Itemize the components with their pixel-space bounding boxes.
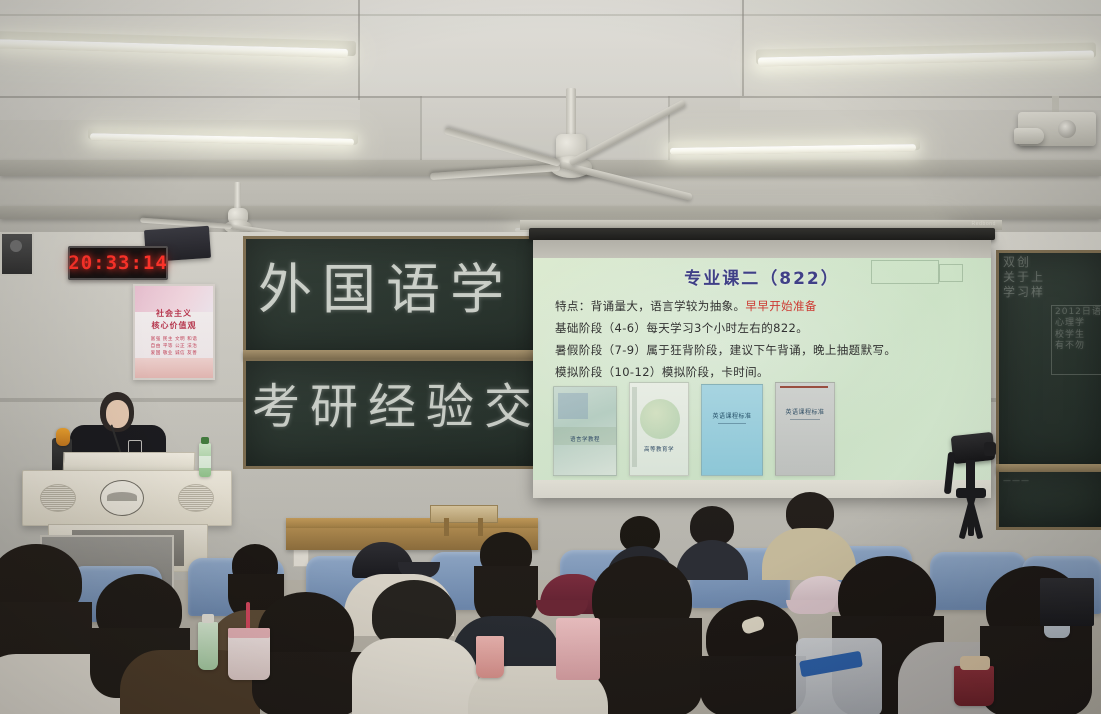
slide-line-3: 暑假阶段（7-9）属于狂背阶段，建议下午背诵，晚上抽题默写。 — [555, 342, 896, 358]
projected-slide: 专业课二（822） 特点：背诵量大，语言学较为抽象。早早开始准备 基础阶段（4-… — [533, 258, 991, 480]
audience-shoulders — [676, 540, 748, 580]
slide-line-1-text: 特点：背诵量大，语言学较为抽象。 — [555, 299, 745, 313]
screen-top-band — [533, 240, 991, 258]
book-cover-2: 高等教育学 — [629, 382, 689, 476]
lecture-hall-photo: 20:33:14 社会主义 核心价值观 富强 民主 文明 和谐 自由 平等 公正… — [0, 0, 1101, 714]
bottle-cap — [202, 614, 214, 623]
book-4-label: 英语课程标准 — [776, 407, 834, 416]
screen-roller-case[interactable] — [529, 228, 995, 240]
book-cover-3: 英语课程标准 — [701, 384, 763, 476]
core-values-poster: 社会主义 核心价值观 富强 民主 文明 和谐 自由 平等 公正 法治 爱国 敬业… — [133, 284, 215, 380]
cap-brim — [786, 600, 836, 614]
audience-shoulders — [762, 528, 856, 580]
presenter-face — [106, 400, 129, 428]
wall-speaker — [0, 232, 34, 276]
book-cover-1: 语言学教程 — [553, 386, 617, 476]
poster-title-line1: 社会主义 — [135, 308, 213, 319]
pink-cup — [476, 636, 504, 678]
projector-front — [1014, 128, 1044, 144]
audience-hair — [980, 626, 1092, 714]
led-wall-clock: 20:33:14 — [68, 246, 168, 280]
slide-fragment-window — [871, 260, 939, 284]
book-3-label: 英语课程标准 — [702, 411, 762, 420]
chalk-text-left-bottom: 考研经验交 — [252, 367, 542, 437]
book-1-label: 语言学教程 — [554, 435, 616, 443]
blackboard-left-lower: 考研经验交 — [243, 358, 549, 469]
microphone-head[interactable] — [56, 428, 70, 446]
camera-lens-icon — [984, 442, 996, 456]
fan-rod-main — [566, 88, 576, 140]
clock-time: 20:33:14 — [68, 252, 168, 274]
book-2-label: 高等教育学 — [630, 445, 688, 453]
water-bottle-cap — [201, 437, 209, 444]
cup-lid — [228, 628, 270, 638]
audience-area — [0, 470, 1101, 714]
slide-fragment-button — [939, 264, 963, 282]
poster-title-line2: 核心价值观 — [135, 320, 213, 331]
slide-line-1-highlight: 早早开始准备 — [745, 299, 816, 313]
screen-brand-label: Redbond — [972, 221, 997, 227]
cup-contents — [960, 656, 990, 670]
slide-line-1: 特点：背诵量大，语言学较为抽象。早早开始准备 — [555, 298, 817, 314]
projector-lens-icon — [1058, 120, 1076, 138]
book-cover-4: 英语课程标准 — [775, 382, 835, 476]
chalk-text-left-top: 外国语学 — [258, 245, 514, 324]
red-cup — [954, 666, 994, 706]
poster-values-text: 富强 民主 文明 和谐 自由 平等 公正 法治 爱国 敬业 诚信 友善 — [135, 336, 213, 357]
audience-shoulders — [352, 638, 478, 714]
water-bottle — [198, 622, 218, 670]
chalk-text-right-top: 双创 关于上 学习样 — [1003, 255, 1045, 300]
blackboard-right: 双创 关于上 学习样 2012日语 心理学 校学生 有不勿 — [996, 250, 1101, 471]
slide-book-covers: 语言学教程 高等教育学 英语课程标准 英语课程标准 — [553, 376, 973, 476]
chalk-text-right-box: 2012日语 心理学 校学生 有不勿 — [1055, 307, 1101, 352]
projection-screen: 专业课二（822） 特点：背诵量大，语言学较为抽象。早早开始准备 基础阶段（4-… — [533, 240, 991, 498]
water-bottle-label — [199, 456, 211, 468]
poster-footer-art — [135, 358, 213, 378]
audience-hair — [700, 656, 806, 714]
slide-line-2: 基础阶段（4-6）每天学习3个小时左右的822。 — [555, 320, 808, 336]
ceiling-beam-2 — [0, 206, 1101, 219]
blackboard-left-upper: 外国语学 — [243, 236, 549, 357]
pink-box — [556, 618, 600, 680]
cap-brim — [536, 600, 588, 616]
laptop[interactable] — [1040, 578, 1094, 626]
